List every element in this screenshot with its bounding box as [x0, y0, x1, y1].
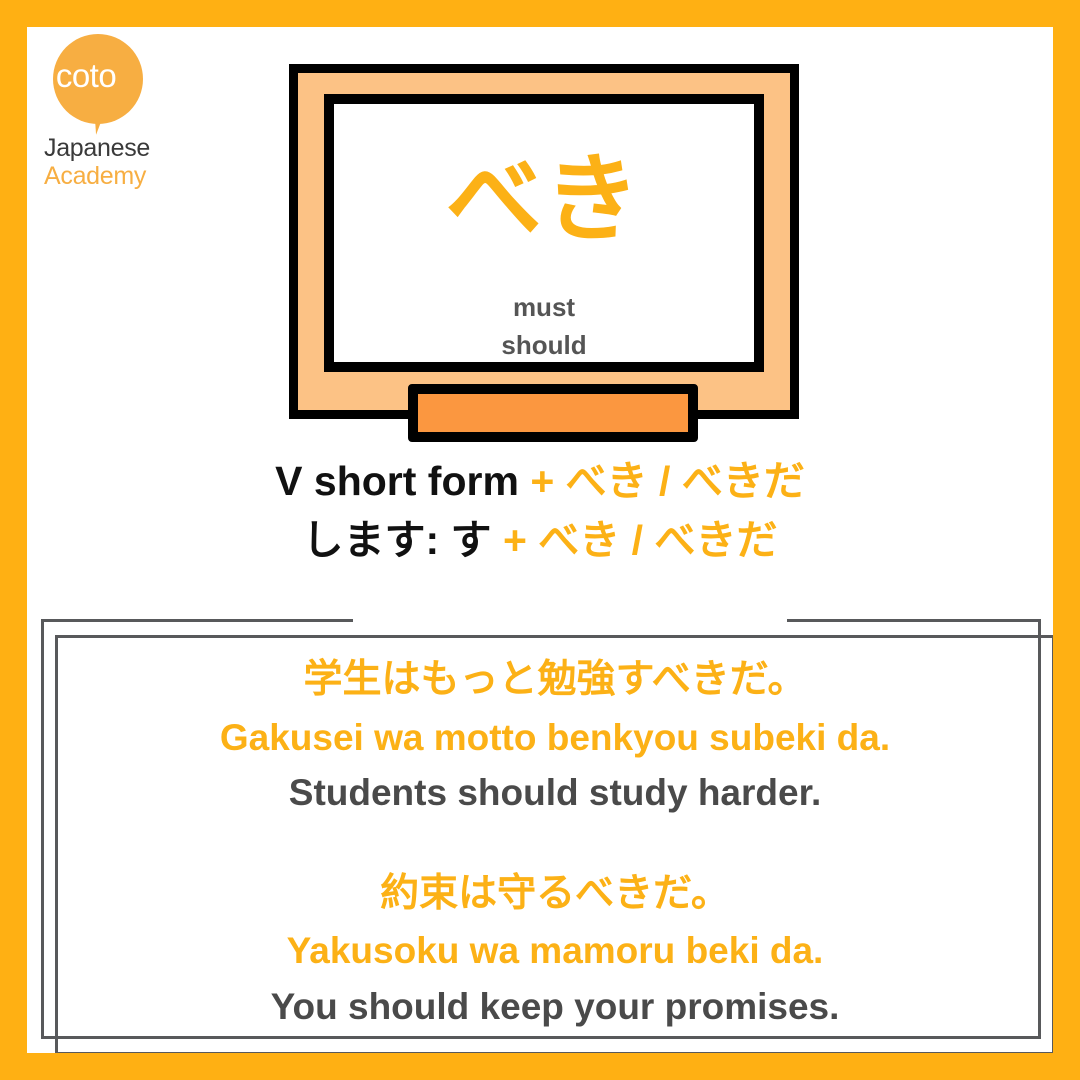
example-item: 約束は守るべきだ。 Yakusoku wa mamoru beki da. Yo…	[67, 865, 1043, 1035]
example-english: Students should study harder.	[67, 765, 1043, 821]
example-romaji: Gakusei wa motto benkyou subeki da.	[67, 710, 1043, 766]
board-gloss-line-1: must	[334, 289, 754, 327]
grammar-formula: V short form + べき / べきだ します: す + べき / べき…	[27, 452, 1053, 571]
coto-logo: coto Japanese Academy	[41, 30, 191, 195]
example-english: You should keep your promises.	[67, 979, 1043, 1035]
formula-line-2-prefix: します: す	[303, 517, 503, 563]
formula-line-2-suffix: + べき / べきだ	[503, 517, 778, 563]
whiteboard-tray	[408, 384, 698, 442]
formula-line-1: V short form + べき / べきだ	[27, 452, 1053, 511]
whiteboard-illustration: べき must should	[289, 64, 799, 419]
formula-line-1-suffix: + べき / べきだ	[530, 458, 805, 504]
logo-line-academy: Academy	[44, 164, 146, 189]
whiteboard-surface: べき must should	[324, 94, 764, 372]
board-gloss-line-2: should	[334, 327, 754, 365]
formula-line-1-prefix: V short form	[275, 458, 530, 504]
example-japanese: 学生はもっと勉強すべきだ。	[67, 651, 1043, 710]
example-item: 学生はもっと勉強すべきだ。 Gakusei wa motto benkyou s…	[67, 651, 1043, 821]
logo-bubble-text: coto	[41, 30, 131, 120]
example-romaji: Yakusoku wa mamoru beki da.	[67, 923, 1043, 979]
board-grammar-word: べき	[334, 152, 754, 248]
grammar-card: coto Japanese Academy べき must should V s…	[0, 0, 1080, 1080]
logo-line-japanese: Japanese	[44, 136, 150, 161]
examples-list: 学生はもっと勉強すべきだ。 Gakusei wa motto benkyou s…	[67, 651, 1043, 1041]
examples-frame: 学生はもっと勉強すべきだ。 Gakusei wa motto benkyou s…	[27, 605, 1053, 1053]
card-inner-panel: coto Japanese Academy べき must should V s…	[27, 27, 1053, 1053]
example-japanese: 約束は守るべきだ。	[67, 865, 1043, 924]
formula-line-2: します: す + べき / べきだ	[27, 511, 1053, 570]
board-gloss: must should	[334, 289, 754, 364]
